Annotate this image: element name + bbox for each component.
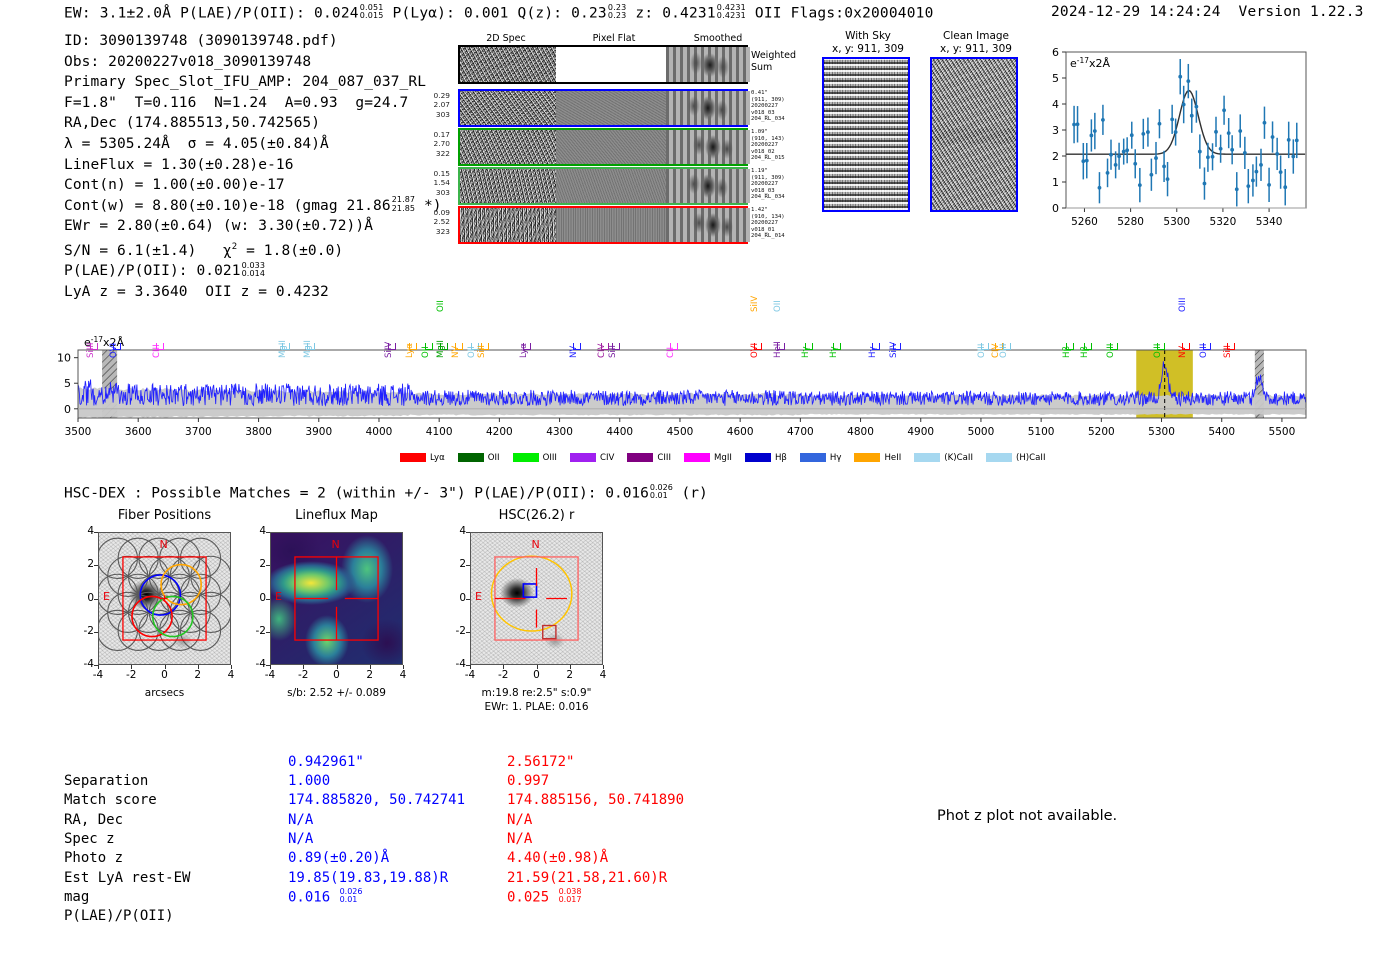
spec2d-smoothed-image bbox=[666, 208, 750, 242]
info-id: ID: 3090139748 (3090139748.pdf) bbox=[64, 31, 442, 52]
svg-text:0: 0 bbox=[64, 403, 71, 416]
spec2d-row-left-values: 0.292.07303 bbox=[414, 91, 450, 119]
spec2d-2dspec-image bbox=[460, 130, 556, 164]
svg-text:6: 6 bbox=[1052, 46, 1059, 59]
header-summary: EW: 3.1±2.0Å P(LAE)/P(OII): 0.0240.0510.… bbox=[64, 4, 934, 21]
axis-tick-mark bbox=[466, 565, 470, 566]
axis-tick-y: -4 bbox=[444, 658, 466, 670]
match-table-frac: 0.0260.01 bbox=[340, 888, 363, 905]
spec2d-fiber-row bbox=[458, 206, 748, 244]
spec2d-col-title-2dspec: 2D Spec bbox=[458, 33, 554, 44]
compass-east-label: E bbox=[475, 590, 482, 603]
emission-line-marker bbox=[455, 343, 463, 350]
legend-label: OII bbox=[488, 453, 500, 463]
legend-label: Hβ bbox=[775, 453, 787, 463]
axis-tick-mark bbox=[466, 599, 470, 600]
axis-tick-mark bbox=[370, 665, 371, 669]
emission-line-marker bbox=[833, 343, 841, 350]
axis-tick-mark bbox=[266, 632, 270, 633]
cutout-clean-sub: x, y: 911, 309 bbox=[930, 43, 1022, 56]
svg-text:5340: 5340 bbox=[1256, 216, 1283, 228]
emission-line-label: OIII bbox=[1178, 298, 1188, 312]
legend-label: Lyα bbox=[430, 453, 445, 463]
emission-line-marker bbox=[388, 343, 396, 350]
spec2d-smoothed-image bbox=[666, 130, 750, 164]
match-table-label: Est LyA rest-EW bbox=[64, 869, 190, 888]
spec2d-2dspec-image bbox=[460, 208, 556, 242]
axis-tick-x: 0 bbox=[156, 669, 174, 681]
axis-tick-mark bbox=[570, 665, 571, 669]
axis-tick-x: 0 bbox=[328, 669, 346, 681]
emission-line-label: OII bbox=[436, 300, 446, 312]
spec2d-row-metadata: 1.19"(911, 309)20200227v018_03204_RL_034 bbox=[751, 168, 785, 201]
svg-text:5100: 5100 bbox=[1028, 426, 1055, 438]
emission-line-marker bbox=[425, 343, 433, 350]
svg-text:3800: 3800 bbox=[245, 426, 272, 438]
axis-tick-x: -4 bbox=[461, 669, 479, 681]
legend-swatch bbox=[513, 453, 539, 462]
image-panel-caption: m:19.8 re:2.5" s:0.9" bbox=[446, 687, 627, 700]
match-table-value-candidate1: 0.942961" bbox=[288, 753, 364, 772]
image-panel-caption: s/b: 2.52 +/- 0.089 bbox=[246, 687, 427, 700]
axis-tick-mark bbox=[537, 665, 538, 669]
info-slot: Primary Spec_Slot_IFU_AMP: 204_087_037_R… bbox=[64, 72, 442, 93]
image-panel: HSC(26.2) rNE-4-2024420-2-4m:19.8 re:2.5… bbox=[436, 508, 626, 728]
svg-text:4500: 4500 bbox=[667, 426, 694, 438]
svg-text:4200: 4200 bbox=[486, 426, 513, 438]
axis-tick-mark bbox=[131, 665, 132, 669]
header-meta: 2024-12-29 14:24:24 Version 1.22.3 bbox=[1051, 4, 1364, 20]
match-table-value-candidate1: 174.885820, 50.742741 bbox=[288, 791, 465, 810]
legend-swatch bbox=[914, 453, 940, 462]
image-panel-canvas bbox=[470, 532, 603, 665]
axis-tick-y: 0 bbox=[72, 592, 94, 604]
spec2d-pixelflat-image bbox=[556, 208, 666, 242]
axis-tick-mark bbox=[403, 665, 404, 669]
spec2d-smoothed-image bbox=[666, 169, 750, 203]
compass-north-label: N bbox=[332, 538, 340, 551]
svg-text:4800: 4800 bbox=[847, 426, 874, 438]
match-table-value-candidate2: 0.025 0.0380.017 bbox=[507, 888, 581, 908]
legend-label: CIV bbox=[600, 453, 614, 463]
spec2d-weighted-smoothed-image bbox=[666, 47, 750, 82]
axis-tick-mark bbox=[270, 665, 271, 669]
svg-text:5: 5 bbox=[1052, 72, 1059, 85]
legend-item: Hβ bbox=[745, 447, 800, 466]
emission-line-marker bbox=[1003, 343, 1011, 350]
compass-north-label: N bbox=[160, 538, 168, 551]
spectrum-legend: LyαOIIOIIICIVCIIIMgIIHβHγHeII(K)CaII(H)C… bbox=[400, 447, 1020, 466]
axis-tick-y: 4 bbox=[444, 525, 466, 537]
spec2d-fiber-rows: 0.292.073030.41"(911, 309)20200227v018_0… bbox=[458, 89, 808, 245]
version-label: Version 1.22.3 bbox=[1239, 4, 1364, 20]
legend-item: MgII bbox=[684, 447, 745, 466]
emission-line-marker bbox=[754, 343, 762, 350]
spec2d-fiber-row bbox=[458, 167, 748, 205]
spec2d-pixelflat-image bbox=[556, 91, 666, 125]
match-table-value-candidate2: 0.997 bbox=[507, 772, 549, 791]
info-lineflux: LineFlux = 1.30(±0.28)e-16 bbox=[64, 155, 442, 176]
match-table-value-candidate1: 19.85(19.83,19.88)R bbox=[288, 869, 448, 888]
emission-line-marker bbox=[90, 343, 98, 350]
svg-text:e-17x2Å: e-17x2Å bbox=[1070, 56, 1111, 70]
info-radec: RA,Dec (174.885513,50.742565) bbox=[64, 113, 442, 134]
axis-tick-mark bbox=[603, 665, 604, 669]
emission-line-marker bbox=[777, 343, 785, 350]
spec2d-col-title-pixelflat: Pixel Flat bbox=[566, 33, 662, 44]
legend-item: CIV bbox=[570, 447, 627, 466]
emission-line-marker bbox=[1182, 343, 1190, 350]
compass-east-label: E bbox=[103, 590, 110, 603]
cutout-with-sky-image bbox=[822, 57, 910, 212]
match-table-value-candidate1: 1.000 bbox=[288, 772, 330, 791]
info-cont-n: Cont(n) = 1.00(±0.00)e-17 bbox=[64, 175, 442, 196]
axis-tick-x: 4 bbox=[594, 669, 612, 681]
emission-line-marker bbox=[1066, 343, 1074, 350]
cutout-with-sky-sub: x, y: 911, 309 bbox=[822, 43, 914, 56]
header-seg-0: EW: 3.1±2.0Å P(LAE)/P(OII): 0.024 bbox=[64, 5, 359, 21]
svg-text:5500: 5500 bbox=[1269, 426, 1296, 438]
emission-line-label: OII bbox=[773, 300, 783, 312]
image-panel-xlabel: arcsecs bbox=[78, 687, 251, 700]
svg-text:3600: 3600 bbox=[125, 426, 152, 438]
axis-tick-y: 2 bbox=[244, 558, 266, 570]
cutout-clean-image-pixels bbox=[930, 57, 1018, 212]
legend-label: CIII bbox=[657, 453, 671, 463]
svg-text:4000: 4000 bbox=[366, 426, 393, 438]
image-panel: Lineflux MapNE-4-2024420-2-4s/b: 2.52 +/… bbox=[236, 508, 426, 728]
cutout-with-sky-title: With Sky bbox=[822, 30, 914, 43]
emission-line-marker bbox=[1110, 343, 1118, 350]
info-lambda: λ = 5305.24Å σ = 4.05(±0.84)Å bbox=[64, 134, 442, 155]
emission-line-marker bbox=[523, 343, 531, 350]
spec2d-col-title-smoothed: Smoothed bbox=[670, 33, 766, 44]
line-fit-plot: 526052805300532053400123456e-17x2Å bbox=[1036, 46, 1312, 242]
legend-label: OIII bbox=[543, 453, 557, 463]
info-cont-w: Cont(w) = 8.80(±0.10)e-18 (gmag 21.8621.… bbox=[64, 196, 442, 217]
axis-tick-mark bbox=[98, 665, 99, 669]
axis-tick-mark bbox=[337, 665, 338, 669]
legend-label: MgII bbox=[714, 453, 732, 463]
image-panel-caption: EWr: 1. PLAE: 0.016 bbox=[446, 701, 627, 714]
header-seg-2: P(Lyα): 0.001 Q(z): 0.23 bbox=[384, 5, 607, 21]
match-table-value-candidate2: 4.40(±0.98)Å bbox=[507, 849, 608, 868]
spec2d-row-metadata: 1.09"(910, 143)20200227v018_02204_RL_015 bbox=[751, 129, 785, 162]
svg-text:3700: 3700 bbox=[185, 426, 212, 438]
svg-text:5: 5 bbox=[64, 377, 71, 390]
axis-tick-y: 4 bbox=[244, 525, 266, 537]
axis-tick-x: -4 bbox=[89, 669, 107, 681]
spec2d-pixelflat-image bbox=[556, 130, 666, 164]
match-table-label: mag bbox=[64, 888, 89, 907]
legend-item: HeII bbox=[854, 447, 914, 466]
axis-tick-mark bbox=[198, 665, 199, 669]
axis-tick-y: -4 bbox=[244, 658, 266, 670]
emission-line-label: SiIV bbox=[750, 296, 760, 312]
header-frac-plae: 0.0510.015 bbox=[360, 4, 384, 21]
svg-text:4400: 4400 bbox=[606, 426, 633, 438]
spec2d-weighted-2dspec-image bbox=[460, 47, 556, 82]
match-table-value-candidate1: N/A bbox=[288, 811, 313, 830]
emission-line-marker bbox=[573, 343, 581, 350]
legend-swatch bbox=[570, 453, 596, 462]
image-panel-canvas bbox=[270, 532, 403, 665]
axis-tick-y: -2 bbox=[244, 625, 266, 637]
legend-swatch bbox=[400, 453, 426, 462]
legend-swatch bbox=[684, 453, 710, 462]
cont-w-gmag-frac: 21.8721.85 bbox=[392, 196, 415, 213]
axis-tick-mark bbox=[266, 565, 270, 566]
match-table-frac: 0.0380.017 bbox=[559, 888, 582, 905]
legend-item: OII bbox=[458, 447, 513, 466]
emission-line-marker bbox=[805, 343, 813, 350]
compass-east-label: E bbox=[275, 590, 282, 603]
axis-tick-mark bbox=[94, 565, 98, 566]
emission-line-marker bbox=[670, 343, 678, 350]
spec2d-row-left-values: 0.172.70322 bbox=[414, 130, 450, 158]
cutout-with-sky: With Sky x, y: 911, 309 bbox=[822, 30, 914, 212]
emission-line-marker bbox=[156, 343, 164, 350]
emission-line-marker bbox=[282, 343, 290, 350]
emission-line-marker bbox=[612, 343, 620, 350]
legend-label: (K)CaII bbox=[944, 453, 973, 463]
axis-tick-mark bbox=[470, 665, 471, 669]
cutout-clean-title: Clean Image bbox=[930, 30, 1022, 43]
legend-swatch bbox=[458, 453, 484, 462]
spec2d-weighted-sum-row bbox=[458, 45, 748, 84]
axis-tick-y: -2 bbox=[444, 625, 466, 637]
svg-text:5200: 5200 bbox=[1088, 426, 1115, 438]
info-obs: Obs: 20200227v018_3090139748 bbox=[64, 52, 442, 73]
axis-tick-mark bbox=[266, 532, 270, 533]
axis-tick-mark bbox=[466, 632, 470, 633]
source-info-block: ID: 3090139748 (3090139748.pdf) Obs: 202… bbox=[64, 31, 442, 303]
info-sn: S/N = 6.1(±1.4) χ2 = 1.8(±0.0) bbox=[64, 237, 442, 261]
svg-text:4: 4 bbox=[1052, 98, 1059, 111]
match-table-label: Spec z bbox=[64, 830, 115, 849]
svg-text:2: 2 bbox=[1052, 150, 1059, 163]
axis-tick-y: 2 bbox=[72, 558, 94, 570]
info-ewr: EWr = 2.80(±0.64) (w: 3.30(±0.72))Å bbox=[64, 216, 442, 237]
legend-swatch bbox=[854, 453, 880, 462]
legend-swatch bbox=[986, 453, 1012, 462]
compass-north-label: N bbox=[532, 538, 540, 551]
legend-swatch bbox=[627, 453, 653, 462]
emission-line-marker bbox=[440, 343, 448, 350]
svg-text:4600: 4600 bbox=[727, 426, 754, 438]
header-frac-qz: 0.230.23 bbox=[608, 4, 627, 21]
header-seg-6: OII Flags:0x20004010 bbox=[746, 5, 934, 21]
legend-item: (H)CaII bbox=[986, 447, 1059, 466]
spec2d-2dspec-image bbox=[460, 169, 556, 203]
svg-text:4700: 4700 bbox=[787, 426, 814, 438]
match-table-label: RA, Dec bbox=[64, 811, 123, 830]
match-table-label: Match score bbox=[64, 791, 157, 810]
match-table-value-candidate2: N/A bbox=[507, 811, 532, 830]
axis-tick-x: 2 bbox=[189, 669, 207, 681]
axis-tick-mark bbox=[503, 665, 504, 669]
axis-tick-y: -2 bbox=[72, 625, 94, 637]
image-panel-title: HSC(26.2) r bbox=[448, 508, 625, 523]
emission-line-marker bbox=[1203, 343, 1211, 350]
match-table-value-candidate2: N/A bbox=[507, 830, 532, 849]
svg-text:10: 10 bbox=[57, 352, 71, 365]
svg-text:5260: 5260 bbox=[1071, 216, 1098, 228]
image-panel-title: Lineflux Map bbox=[248, 508, 425, 523]
header-frac-z: 0.42310.4231 bbox=[717, 4, 746, 21]
svg-text:5300: 5300 bbox=[1148, 426, 1175, 438]
axis-tick-x: 2 bbox=[561, 669, 579, 681]
axis-tick-y: 4 bbox=[72, 525, 94, 537]
svg-text:4300: 4300 bbox=[546, 426, 573, 438]
svg-text:5400: 5400 bbox=[1208, 426, 1235, 438]
match-table-label: P(LAE)/P(OII) bbox=[64, 907, 174, 926]
spec2d-weighted-pixelflat-image bbox=[556, 47, 666, 82]
match-table-value-candidate1: 0.016 0.0260.01 bbox=[288, 888, 362, 908]
axis-tick-mark bbox=[266, 599, 270, 600]
axis-tick-y: 0 bbox=[244, 592, 266, 604]
spec2d-row-metadata: 1.42"(910, 134)20200227v018_01204_RL_014 bbox=[751, 207, 785, 240]
svg-text:3500: 3500 bbox=[65, 426, 92, 438]
image-panel-group: Fiber PositionsNE-4-2024420-2-4arcsecsLi… bbox=[40, 508, 620, 733]
match-table-value-candidate2: 174.885156, 50.741890 bbox=[507, 791, 684, 810]
axis-tick-x: 2 bbox=[361, 669, 379, 681]
axis-tick-x: 4 bbox=[394, 669, 412, 681]
legend-item: OIII bbox=[513, 447, 570, 466]
hsc-dex-headline: HSC-DEX : Possible Matches = 2 (within +… bbox=[64, 484, 708, 501]
spec2d-row-left-values: 0.092.52323 bbox=[414, 208, 450, 236]
spec2d-2dspec-image bbox=[460, 91, 556, 125]
legend-swatch bbox=[745, 453, 771, 462]
emission-line-marker bbox=[981, 343, 989, 350]
legend-item: Lyα bbox=[400, 447, 458, 466]
info-params: F=1.8" T=0.116 N=1.24 A=0.93 g=24.7 bbox=[64, 93, 442, 114]
axis-tick-mark bbox=[94, 632, 98, 633]
emission-line-marker bbox=[481, 343, 489, 350]
spec2d-row-metadata: 0.41"(911, 309)20200227v018_03204_RL_034 bbox=[751, 90, 785, 123]
axis-tick-mark bbox=[94, 599, 98, 600]
svg-text:3: 3 bbox=[1052, 124, 1059, 137]
axis-tick-mark bbox=[303, 665, 304, 669]
match-table-value-candidate2: 2.56172" bbox=[507, 753, 574, 772]
legend-item: (K)CaII bbox=[914, 447, 986, 466]
photoz-note: Phot z plot not available. bbox=[937, 808, 1117, 824]
spec2d-fiber-row bbox=[458, 128, 748, 166]
axis-tick-x: -2 bbox=[494, 669, 512, 681]
svg-text:5320: 5320 bbox=[1210, 216, 1237, 228]
axis-tick-x: -2 bbox=[122, 669, 140, 681]
svg-text:5000: 5000 bbox=[968, 426, 995, 438]
spec2d-smoothed-image bbox=[666, 91, 750, 125]
hsc-headline-frac: 0.0260.01 bbox=[650, 484, 673, 501]
axis-tick-y: 2 bbox=[444, 558, 466, 570]
cutout-clean-image: Clean Image x, y: 911, 309 bbox=[930, 30, 1022, 212]
emission-line-marker bbox=[307, 343, 315, 350]
emission-line-marker bbox=[113, 343, 121, 350]
emission-line-marker bbox=[893, 343, 901, 350]
legend-item: Hγ bbox=[800, 447, 855, 466]
timestamp: 2024-12-29 14:24:24 bbox=[1051, 4, 1221, 20]
legend-label: Hγ bbox=[830, 453, 842, 463]
match-table-value-candidate1: 0.89(±0.20)Å bbox=[288, 849, 389, 868]
axis-tick-y: 0 bbox=[444, 592, 466, 604]
image-panel: Fiber PositionsNE-4-2024420-2-4arcsecs bbox=[64, 508, 254, 728]
header-seg-4: z: 0.4231 bbox=[626, 5, 715, 21]
legend-label: HeII bbox=[884, 453, 901, 463]
svg-text:1: 1 bbox=[1052, 176, 1059, 189]
axis-tick-mark bbox=[94, 532, 98, 533]
emission-line-marker bbox=[1227, 343, 1235, 350]
emission-line-marker bbox=[872, 343, 880, 350]
axis-tick-y: -4 bbox=[72, 658, 94, 670]
svg-text:4900: 4900 bbox=[907, 426, 934, 438]
axis-tick-mark bbox=[466, 532, 470, 533]
axis-tick-mark bbox=[231, 665, 232, 669]
spec2d-pixelflat-image bbox=[556, 169, 666, 203]
svg-text:5300: 5300 bbox=[1163, 216, 1190, 228]
spec2d-row-left-values: 0.151.54303 bbox=[414, 169, 450, 197]
match-table-value-candidate2: 21.59(21.58,21.60)R bbox=[507, 869, 667, 888]
axis-tick-mark bbox=[94, 665, 98, 666]
match-table-label: Separation bbox=[64, 772, 148, 791]
match-table-value-candidate1: N/A bbox=[288, 830, 313, 849]
image-panel-title: Fiber Positions bbox=[76, 508, 253, 523]
svg-text:5280: 5280 bbox=[1117, 216, 1144, 228]
axis-tick-x: 0 bbox=[528, 669, 546, 681]
svg-text:0: 0 bbox=[1052, 202, 1059, 215]
emission-line-marker bbox=[1084, 343, 1092, 350]
svg-text:4100: 4100 bbox=[426, 426, 453, 438]
axis-tick-mark bbox=[165, 665, 166, 669]
spec2d-weighted-sum-label: Weighted Sum bbox=[751, 50, 796, 73]
axis-tick-x: -2 bbox=[294, 669, 312, 681]
axis-tick-mark bbox=[466, 665, 470, 666]
spec2d-panel-group: 2D Spec Pixel Flat Smoothed Weighted Sum… bbox=[458, 33, 808, 245]
spec2d-fiber-row bbox=[458, 89, 748, 127]
svg-text:3900: 3900 bbox=[305, 426, 332, 438]
hsc-headline-text: HSC-DEX : Possible Matches = 2 (within +… bbox=[64, 485, 649, 501]
full-spectrum-plot: 3500360037003800390040004100420043004400… bbox=[0, 266, 1400, 466]
image-panel-canvas bbox=[98, 532, 231, 665]
legend-swatch bbox=[800, 453, 826, 462]
match-table-label: Photo z bbox=[64, 849, 123, 868]
emission-line-marker bbox=[1157, 343, 1165, 350]
legend-label: (H)CaII bbox=[1016, 453, 1046, 463]
legend-item: CIII bbox=[627, 447, 684, 466]
axis-tick-x: -4 bbox=[261, 669, 279, 681]
axis-tick-mark bbox=[266, 665, 270, 666]
emission-line-marker bbox=[409, 343, 417, 350]
